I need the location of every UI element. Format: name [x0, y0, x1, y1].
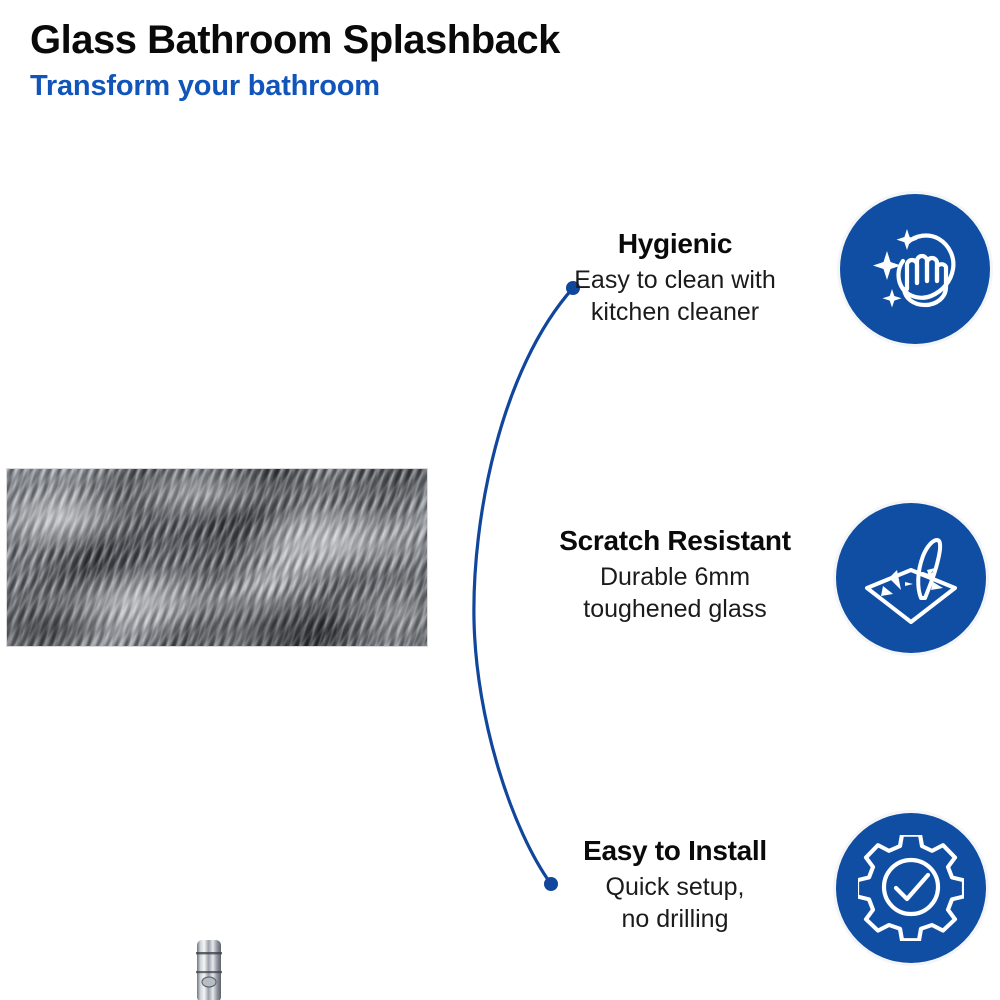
feature-easy-to-install: Easy to Install Quick setup, no drilling	[520, 835, 830, 935]
product-photo	[0, 440, 440, 770]
feature-title: Scratch Resistant	[520, 525, 830, 557]
feature-description: Durable 6mm toughened glass	[520, 561, 830, 625]
page-title: Glass Bathroom Splashback	[30, 18, 730, 63]
feature-description-line: Easy to clean with	[520, 264, 830, 296]
page-subtitle: Transform your bathroom	[30, 69, 730, 104]
gear-checkmark-icon	[836, 813, 986, 963]
splashback-panel-image	[7, 469, 427, 646]
feature-description-line: kitchen cleaner	[520, 296, 830, 328]
knife-scratch-surface-icon	[836, 503, 986, 653]
feature-hygienic: Hygienic Easy to clean with kitchen clea…	[520, 228, 830, 328]
fur-texture-tufts	[7, 469, 427, 646]
header: Glass Bathroom Splashback Transform your…	[30, 18, 730, 104]
chrome-tap-icon	[194, 938, 224, 1000]
feature-description-line: Durable 6mm	[520, 561, 830, 593]
feature-description: Easy to clean with kitchen cleaner	[520, 264, 830, 328]
feature-description-line: no drilling	[520, 903, 830, 935]
feature-description: Quick setup, no drilling	[520, 871, 830, 935]
feature-title: Easy to Install	[520, 835, 830, 867]
hand-wiping-sparkle-icon	[840, 194, 990, 344]
infographic-page: Glass Bathroom Splashback Transform your…	[0, 0, 1000, 1000]
feature-description-line: toughened glass	[520, 593, 830, 625]
feature-scratch-resistant: Scratch Resistant Durable 6mm toughened …	[520, 525, 830, 625]
feature-description-line: Quick setup,	[520, 871, 830, 903]
feature-title: Hygienic	[520, 228, 830, 260]
